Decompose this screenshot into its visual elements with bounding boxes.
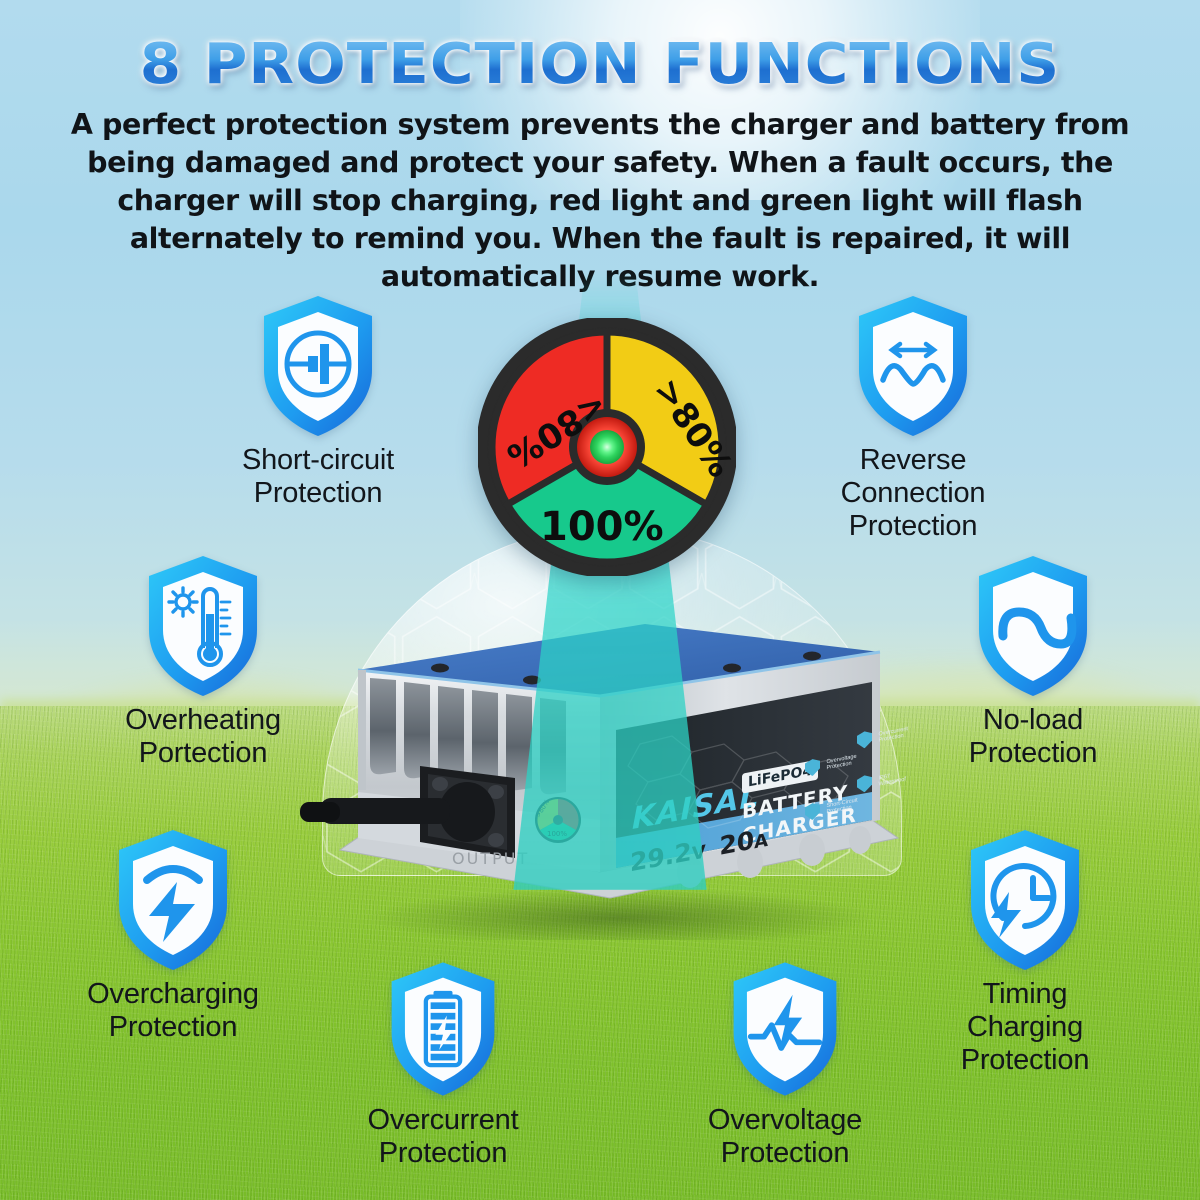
s-wave-icon — [971, 552, 1095, 700]
reverse-arrow-wave-icon — [851, 292, 975, 440]
gauge-label-green: 100% — [540, 504, 664, 550]
page-description: A perfect protection system prevents the… — [50, 106, 1150, 296]
circuit-break-icon — [256, 292, 380, 440]
protection-label: Overvoltage Protection — [672, 1104, 898, 1170]
page-title: 8 PROTECTION FUNCTIONS — [0, 32, 1200, 97]
protection-label: Overcurrent Protection — [330, 1104, 556, 1170]
protection-timing-charging: Timing Charging Protection — [912, 826, 1138, 1077]
charge-status-gauge: <80% >80% 100% — [478, 318, 736, 576]
protection-overcharging: Overcharging Protection — [60, 826, 286, 1044]
protection-no-load: No-load Protection — [920, 552, 1146, 770]
protection-overvoltage: Overvoltage Protection — [672, 958, 898, 1170]
protection-label: Timing Charging Protection — [912, 978, 1138, 1077]
protection-label: No-load Protection — [920, 704, 1146, 770]
bolt-pulse-icon — [726, 958, 844, 1100]
charger-illustration: OUTPUT >80% 100% — [300, 520, 920, 940]
protection-label: Overcharging Protection — [60, 978, 286, 1044]
battery-bolt-icon — [384, 958, 502, 1100]
protection-label: Overheating Portection — [90, 704, 316, 770]
protection-overheating: Overheating Portection — [90, 552, 316, 770]
protection-short-circuit: Short-circuit Protection — [205, 292, 431, 510]
protection-label: Short-circuit Protection — [205, 444, 431, 510]
thermometer-sun-icon — [141, 552, 265, 700]
bolt-signal-icon — [111, 826, 235, 974]
protection-overcurrent: Overcurrent Protection — [330, 958, 556, 1170]
protection-label: Reverse Connection Protection — [800, 444, 1026, 543]
clock-bolt-icon — [963, 826, 1087, 974]
protection-reverse-connection: Reverse Connection Protection — [800, 292, 1026, 543]
